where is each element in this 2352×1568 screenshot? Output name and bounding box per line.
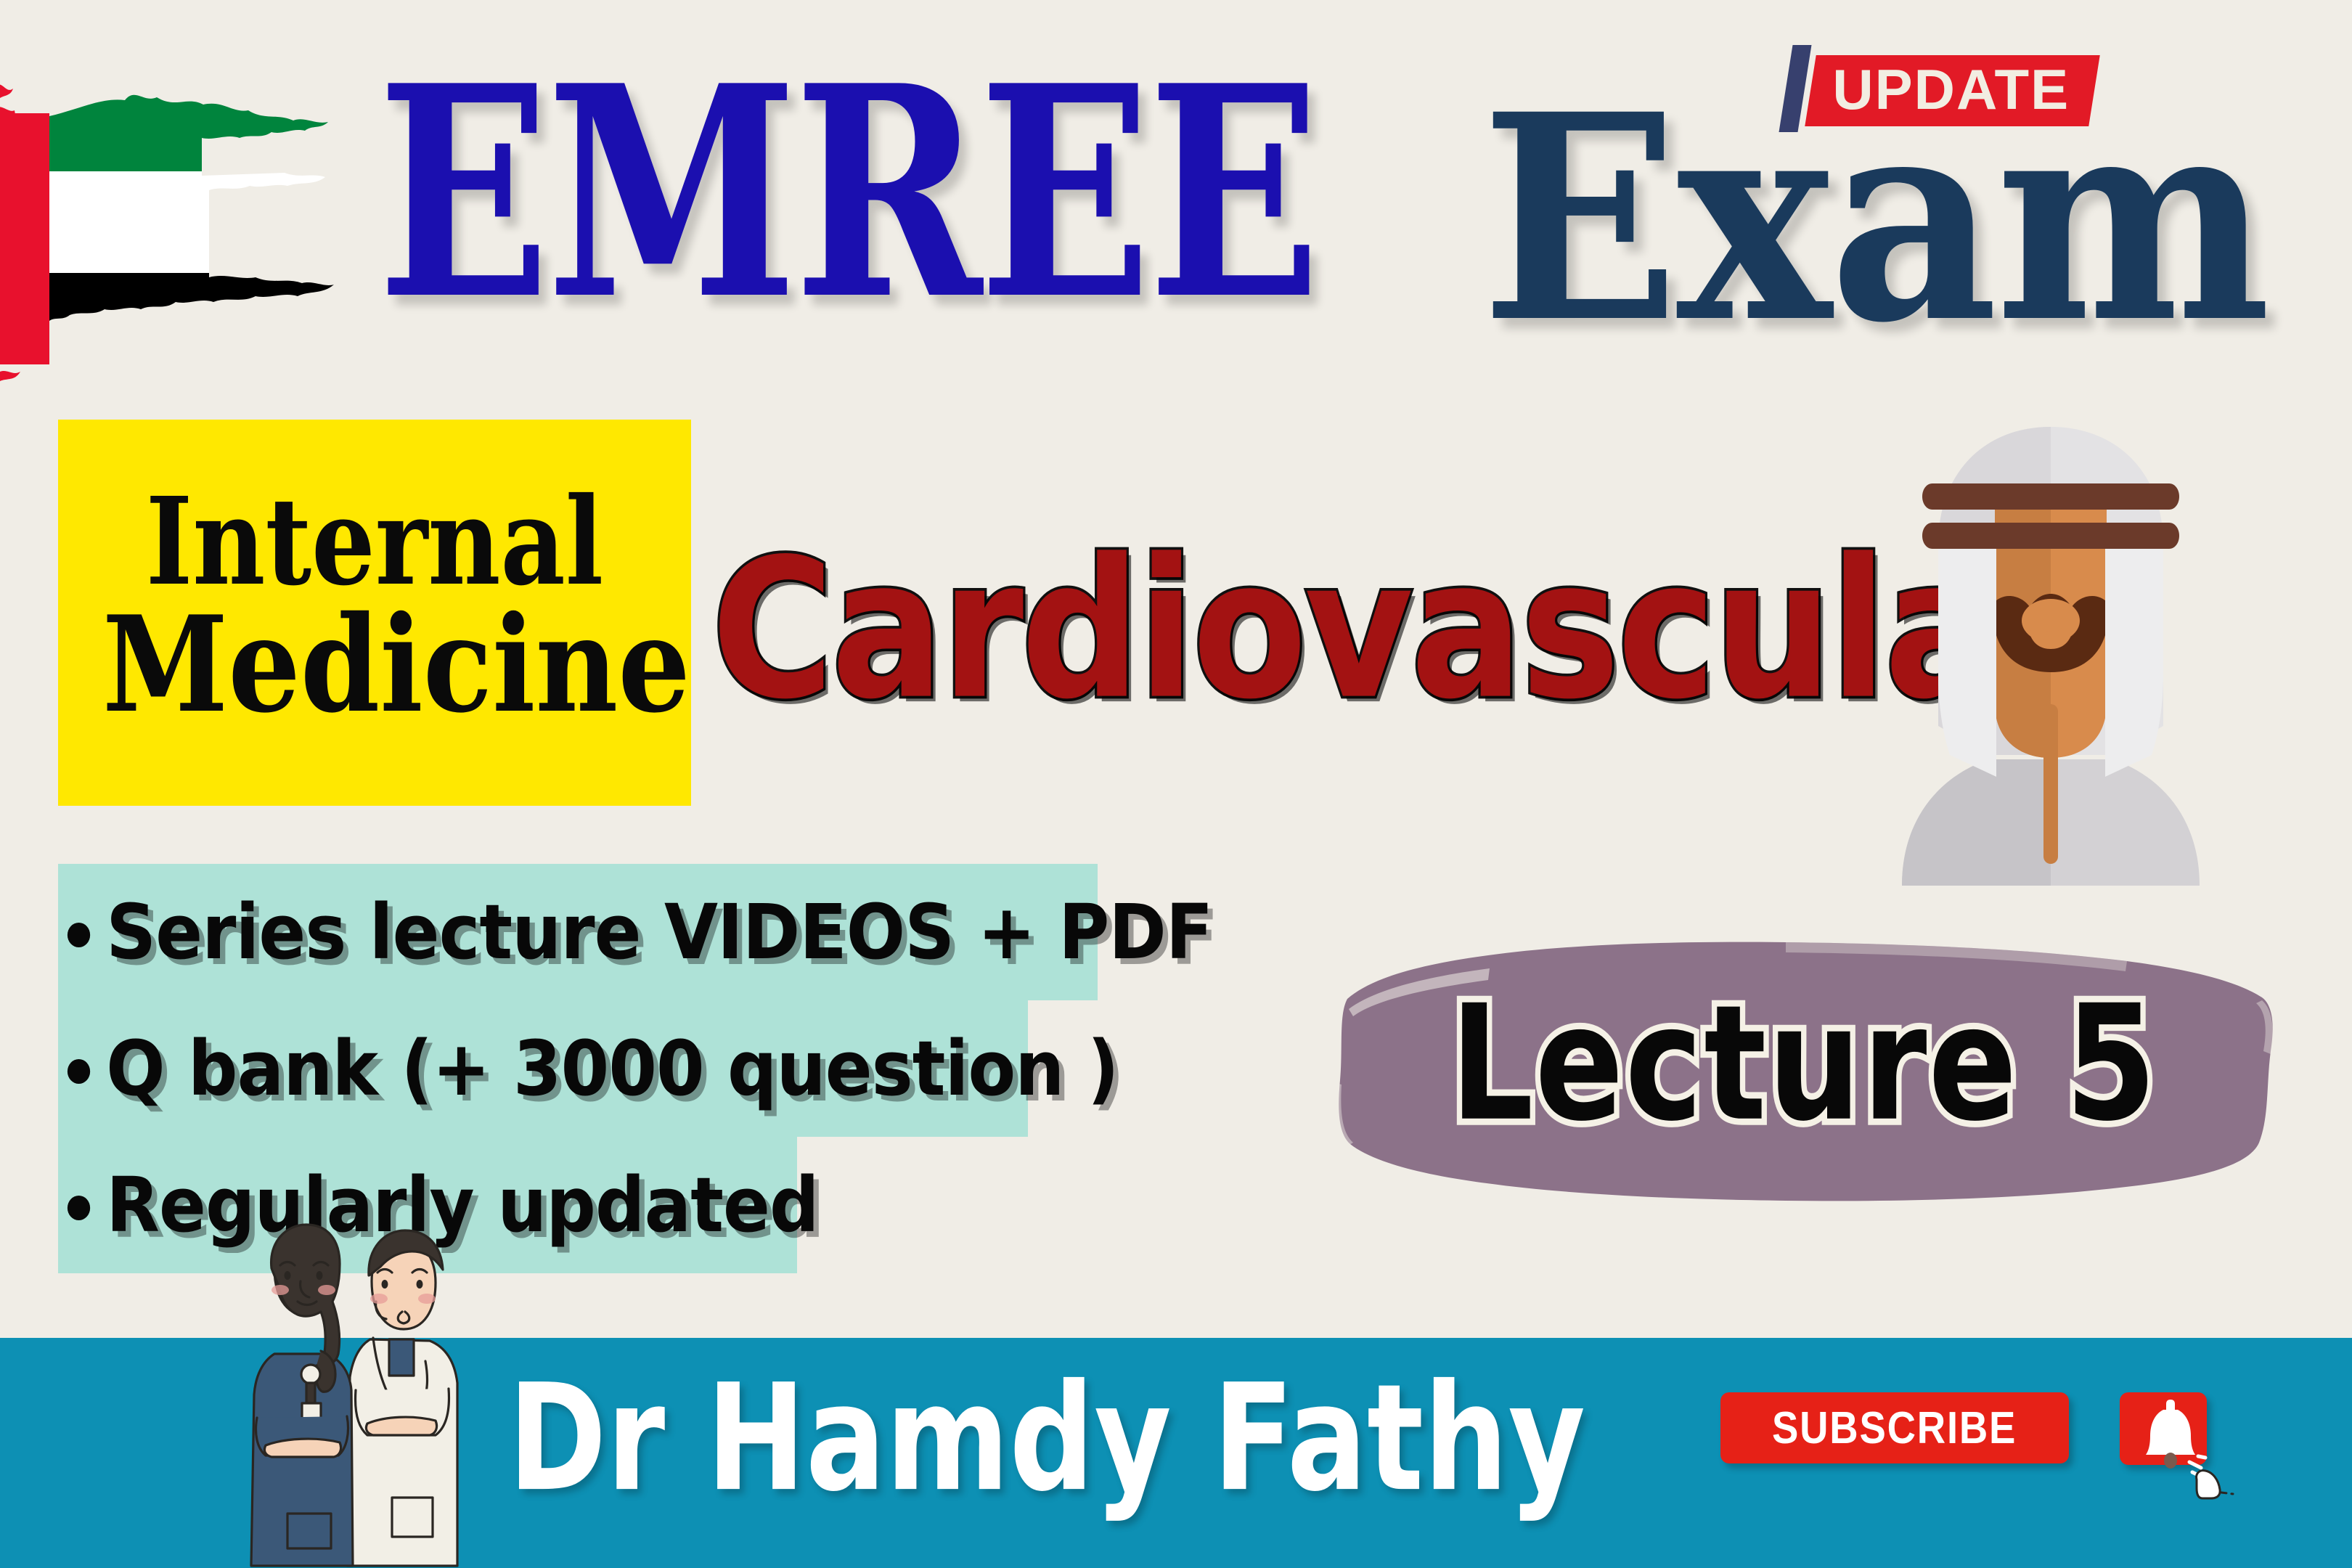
bullet-dot-icon	[68, 1059, 90, 1084]
thumbnail-canvas: EMREE Exam UPDATE Internal Medicine Card…	[0, 0, 2352, 1568]
topic-title: Cardiovascular	[711, 534, 2074, 726]
update-badge-label: UPDATE	[1832, 61, 2070, 118]
bullet-dot-icon	[68, 1196, 90, 1220]
notification-bell-icon	[2120, 1392, 2236, 1501]
feature-text-wrap: Series lecture VIDEOS + PDF	[58, 864, 1212, 1000]
lecture-label: Lecture 5	[1360, 984, 2248, 1144]
subject-box: Internal Medicine	[58, 420, 691, 806]
lecture-badge: Lecture 5	[1321, 929, 2287, 1220]
subscribe-label: SUBSCRIBE	[1772, 1402, 2017, 1454]
subject-line-1: Internal	[112, 482, 637, 603]
arab-man-avatar	[1895, 414, 2207, 886]
feature-text-wrap: Q bank (+ 3000 question )	[58, 1000, 1119, 1137]
presenter-name: Dr Hamdy Fathy	[508, 1365, 1585, 1512]
update-badge-box: UPDATE	[1805, 55, 2099, 126]
bullet-dot-icon	[68, 923, 90, 947]
feature-label: Series lecture VIDEOS + PDF	[106, 888, 1212, 976]
page-title-emree: EMREE	[377, 51, 1318, 335]
feature-label: Q bank (+ 3000 question )	[106, 1024, 1118, 1113]
uae-flag-brush-icon	[0, 44, 334, 392]
subscribe-button[interactable]: SUBSCRIBE	[1720, 1392, 2069, 1463]
subject-line-2: Medicine	[102, 598, 647, 730]
notification-bell-button[interactable]	[2120, 1392, 2207, 1465]
two-doctors-illustration	[218, 1209, 523, 1568]
